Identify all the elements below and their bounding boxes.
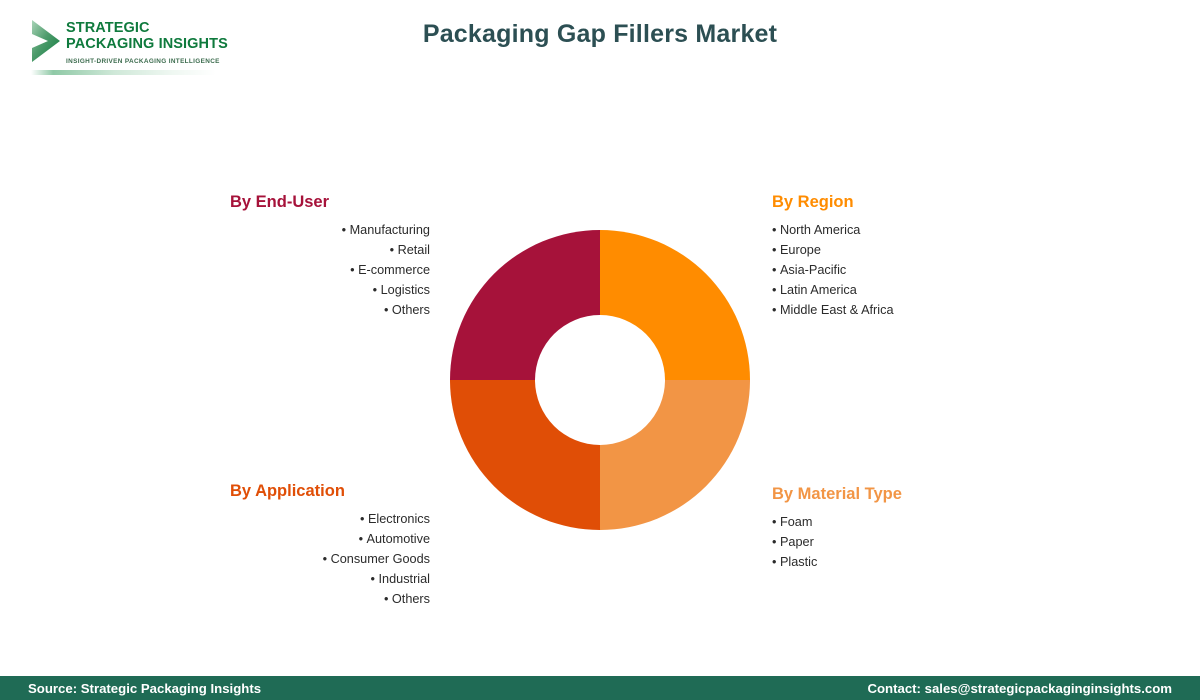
list-item: Others — [230, 589, 430, 609]
list-item: E-commerce — [230, 260, 430, 280]
segment-list-region: North America Europe Asia-Pacific Latin … — [772, 220, 1002, 320]
list-item: Asia-Pacific — [772, 260, 1002, 280]
page-title: Packaging Gap Fillers Market — [0, 20, 1200, 49]
infographic-page: STRATEGIC PACKAGING INSIGHTS INSIGHT-DRI… — [0, 0, 1200, 700]
segment-material-type: By Material Type Foam Paper Plastic — [772, 485, 1002, 572]
list-item: Middle East & Africa — [772, 300, 1002, 320]
segment-region: By Region North America Europe Asia-Paci… — [772, 193, 1002, 320]
segment-title-application: By Application — [230, 482, 430, 501]
donut-chart — [450, 230, 750, 530]
footer-bar: Source: Strategic Packaging Insights Con… — [0, 676, 1200, 700]
logo-tagline: INSIGHT-DRIVEN PACKAGING INTELLIGENCE — [66, 58, 220, 65]
segment-list-material-type: Foam Paper Plastic — [772, 512, 1002, 572]
donut-chart-svg — [450, 230, 750, 530]
segment-title-material-type: By Material Type — [772, 485, 1002, 504]
list-item: Logistics — [230, 280, 430, 300]
list-item: Manufacturing — [230, 220, 430, 240]
segment-list-application: Electronics Automotive Consumer Goods In… — [230, 509, 430, 609]
segment-title-end-user: By End-User — [230, 193, 430, 212]
list-item: Automotive — [230, 529, 430, 549]
list-item: Europe — [772, 240, 1002, 260]
list-item: Foam — [772, 512, 1002, 532]
list-item: Industrial — [230, 569, 430, 589]
donut-center-hole — [535, 315, 665, 445]
list-item: Paper — [772, 532, 1002, 552]
list-item: Electronics — [230, 509, 430, 529]
footer-contact[interactable]: Contact: sales@strategicpackaginginsight… — [867, 681, 1172, 696]
list-item: Others — [230, 300, 430, 320]
list-item: Consumer Goods — [230, 549, 430, 569]
segment-list-end-user: Manufacturing Retail E-commerce Logistic… — [230, 220, 430, 320]
list-item: Latin America — [772, 280, 1002, 300]
list-item: Retail — [230, 240, 430, 260]
segment-end-user: By End-User Manufacturing Retail E-comme… — [230, 193, 430, 320]
segment-application: By Application Electronics Automotive Co… — [230, 482, 430, 609]
segment-title-region: By Region — [772, 193, 1002, 212]
list-item: North America — [772, 220, 1002, 240]
logo-underline-divider — [31, 70, 216, 75]
list-item: Plastic — [772, 552, 1002, 572]
footer-source: Source: Strategic Packaging Insights — [28, 681, 261, 696]
